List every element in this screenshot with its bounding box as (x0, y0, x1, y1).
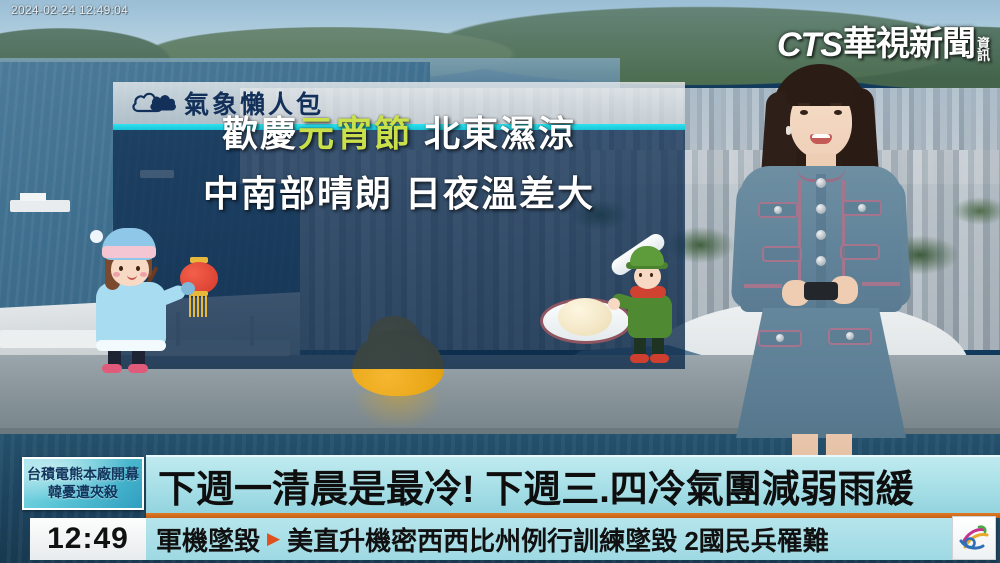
clock-box: 12:49 (30, 518, 146, 560)
eyebrow-left (798, 103, 810, 106)
channel-logo-suffix-bottom: 訊 (977, 50, 990, 62)
tweed-skirt (736, 308, 906, 438)
channel-logo-suffix: 資 訊 (977, 38, 990, 62)
headline-bar: 下週一清晨是最冷! 下週三.四冷氣團減弱雨緩 (146, 455, 1000, 513)
jacket-button (816, 230, 826, 240)
eye-left (800, 110, 808, 115)
weather-headlines: 歡慶元宵節 北東濕涼 中南部晴朗 日夜溫差大 (113, 104, 685, 224)
lantern-tassel (189, 295, 209, 317)
headline-1-suffix: 北東濕涼 (412, 113, 576, 154)
girl-eye-right (136, 266, 140, 271)
jacket-pocket-lower-right (840, 244, 880, 260)
skirt-pocket-button (776, 334, 784, 342)
eyebrow-right (830, 103, 842, 106)
boy-shoe-left (630, 354, 649, 363)
teeth (812, 134, 830, 138)
tangyuan-rice-ball (558, 298, 612, 336)
boy-hand (608, 298, 620, 310)
girl-mitten (181, 282, 195, 295)
girl-hat-pompom (90, 230, 103, 243)
headline-text: 下週一清晨是最冷! 下週三.四冷氣團減弱雨緩 (158, 458, 914, 513)
cts-ribbon-logo-icon (952, 516, 996, 560)
eye-right (834, 110, 842, 115)
jacket-button (816, 178, 826, 188)
news-ticker[interactable]: 軍機墜毀 ▶ 美直升機密西西比州例行訓練墜毀 2國民兵罹難 (146, 518, 952, 560)
secondary-news-line-2: 韓憂遭夾殺 (48, 484, 118, 502)
weather-headline-line-2: 中南部晴朗 日夜溫差大 (113, 164, 685, 224)
ticker-row: 12:49 軍機墜毀 ▶ 美直升機密西西比州例行訓練墜毀 2國民兵罹難 (0, 518, 1000, 563)
boy-with-tangyuan-spoon-illustration (534, 240, 684, 370)
ticker-headline: 美直升機密西西比州例行訓練墜毀 2國民兵罹難 (287, 521, 829, 558)
jacket-cuff-right (862, 282, 900, 286)
duck-reflection (356, 392, 440, 426)
lower-third: 下週一清晨是最冷! 下週三.四冷氣團減弱雨緩 台積電熊本廠開幕 韓憂遭夾殺 12… (0, 455, 1000, 563)
clock-time: 12:49 (47, 522, 129, 556)
channel-logo: CTS 華視新聞 資 訊 (777, 16, 990, 65)
boy-eye-left (639, 273, 642, 277)
play-arrow-icon: ▶ (267, 529, 280, 549)
jacket-button (816, 204, 826, 214)
girl-winter-coat (96, 282, 166, 348)
pocket-button (774, 206, 782, 214)
skirt-pocket-button (846, 332, 854, 340)
jacket-pocket-lower-left (762, 246, 802, 262)
girl-eye-left (119, 266, 123, 271)
jacket-cuff-left (744, 284, 782, 288)
girl-cheek-left (113, 272, 120, 277)
ticker-category: 軍機墜毀 (156, 521, 260, 558)
headline-2-text: 中南部晴朗 日夜溫差大 (203, 173, 595, 214)
girl-shoe-left (102, 364, 122, 373)
headline-1-prefix: 歡慶 (222, 113, 298, 154)
ship-icon (10, 200, 70, 212)
earring (786, 126, 791, 135)
jacket-button (816, 256, 826, 266)
broadcast-screen: 2024-02-24 12:49:04 CTS 華視新聞 資 訊 (0, 0, 1000, 563)
headline-1-accent: 元宵節 (298, 113, 412, 154)
secondary-news-box[interactable]: 台積電熊本廠開幕 韓憂遭夾殺 (22, 457, 144, 510)
channel-logo-chinese: 華視新聞 (843, 16, 975, 65)
girl-coat-trim (96, 340, 166, 351)
weather-headline-line-1: 歡慶元宵節 北東濕涼 (113, 104, 685, 164)
girl-with-lantern-illustration (78, 222, 198, 370)
channel-logo-latin: CTS (777, 26, 842, 65)
remote-control (804, 282, 838, 300)
timestamp-overlay: 2024-02-24 12:49:04 (11, 3, 128, 17)
weather-presenter (700, 62, 920, 502)
boy-shoe-right (650, 354, 669, 363)
girl-cheek-right (140, 272, 147, 277)
girl-hat-band (102, 246, 156, 258)
hair-bangs (786, 78, 856, 106)
pocket-button (858, 204, 866, 212)
secondary-news-line-1: 台積電熊本廠開幕 (27, 466, 139, 484)
boy-eye-right (650, 273, 653, 277)
girl-shoe-right (128, 364, 148, 373)
